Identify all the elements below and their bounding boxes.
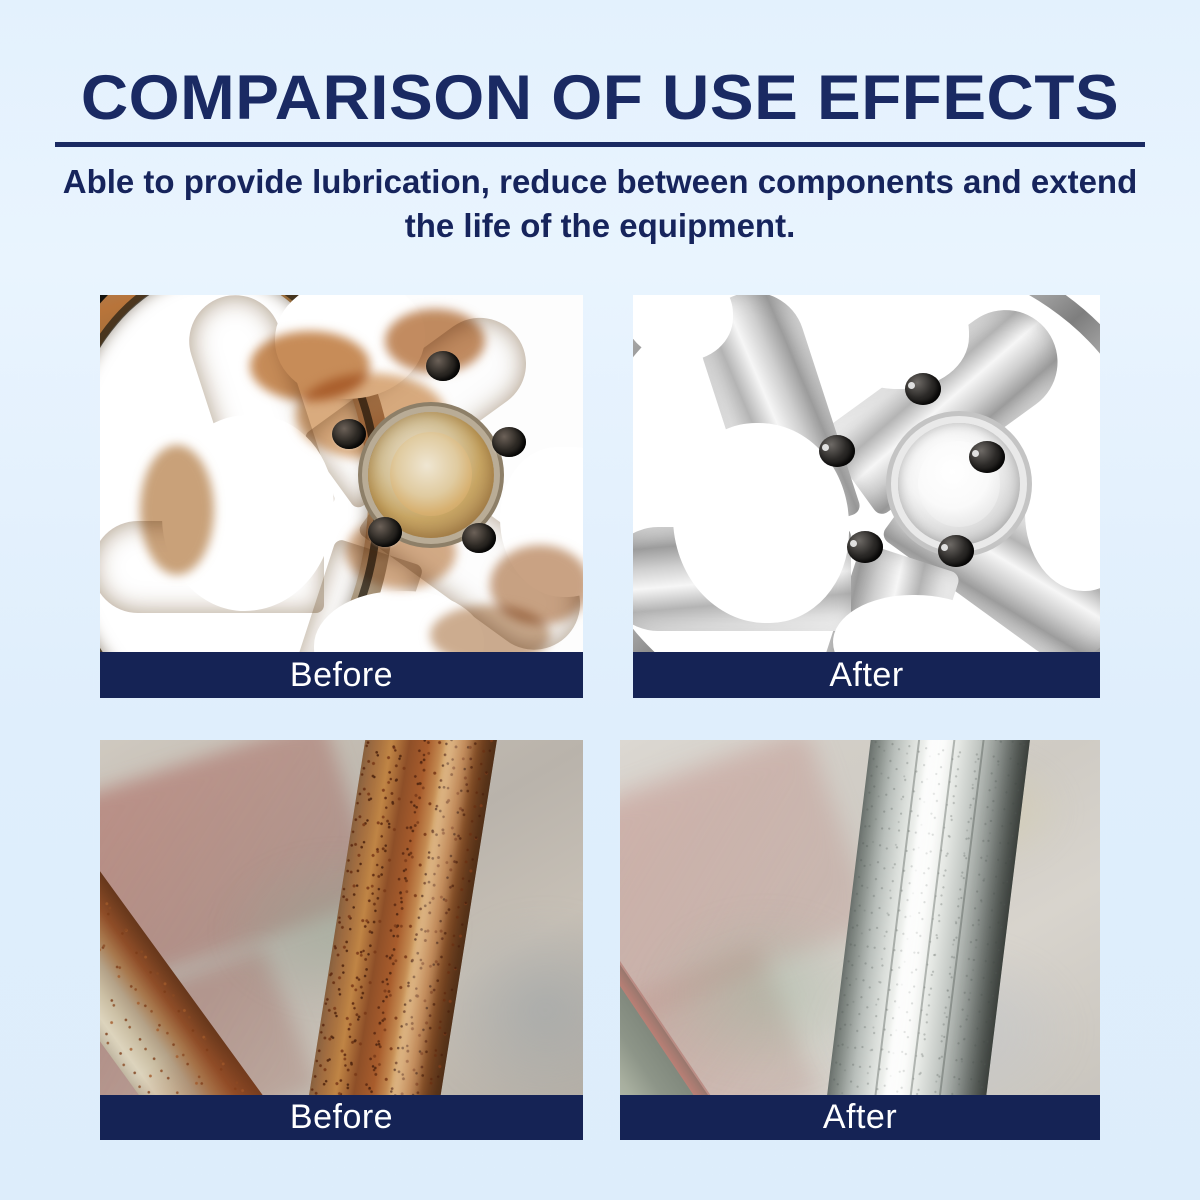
- comparison-panel-after-pipe: After: [620, 740, 1100, 1142]
- caption-label: Before: [290, 1098, 393, 1137]
- rust-patch: [140, 445, 214, 575]
- photo-rusted-wheel: [100, 295, 583, 655]
- clean-pipe-illustration: [620, 740, 1100, 1098]
- caption-bar-before: Before: [100, 1095, 583, 1140]
- rusted-wheel-illustration: [100, 295, 583, 655]
- title-divider: [55, 142, 1145, 147]
- comparison-panel-before-pipe: Before: [100, 740, 583, 1142]
- lug-nut: [332, 419, 366, 449]
- caption-label: After: [829, 656, 903, 695]
- photo-clean-pipe: [620, 740, 1100, 1098]
- lug-nut: [847, 531, 883, 563]
- lug-nut: [462, 523, 496, 553]
- wheel-hub-cap: [390, 432, 472, 516]
- photo-clean-wheel: [633, 295, 1100, 655]
- photo-rusted-pipe: [100, 740, 583, 1098]
- wheel-hub: [898, 423, 1020, 545]
- page-title: COMPARISON OF USE EFFECTS: [0, 62, 1200, 134]
- lug-nut: [938, 535, 974, 567]
- lug-nut: [492, 427, 526, 457]
- lug-nut: [368, 517, 402, 547]
- lug-nut: [969, 441, 1005, 473]
- caption-bar-before: Before: [100, 652, 583, 698]
- lug-nut: [426, 351, 460, 381]
- caption-label: After: [823, 1098, 897, 1137]
- lug-nut: [905, 373, 941, 405]
- lug-nut: [819, 435, 855, 467]
- rusted-pipe-illustration: [100, 740, 583, 1098]
- caption-bar-after: After: [633, 652, 1100, 698]
- comparison-panel-before-wheel: Before: [100, 295, 583, 700]
- subtitle-text: Able to provide lubrication, reduce betw…: [55, 160, 1145, 247]
- clean-wheel-illustration: [633, 295, 1100, 655]
- comparison-panel-after-wheel: After: [633, 295, 1100, 700]
- caption-bar-after: After: [620, 1095, 1100, 1140]
- caption-label: Before: [290, 656, 393, 695]
